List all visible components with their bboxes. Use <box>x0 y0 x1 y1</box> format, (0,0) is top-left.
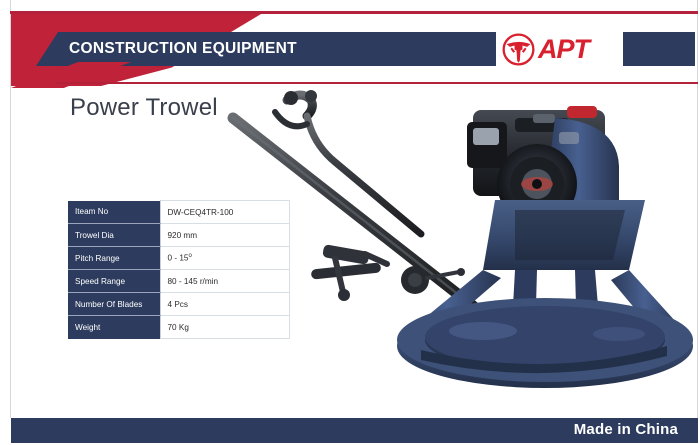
spec-value-iteam-no: DW-CEQ4TR-100 <box>160 201 290 224</box>
degree-symbol: o <box>188 253 191 259</box>
trowel-control-cluster <box>311 244 387 301</box>
made-in-china-label: Made in China <box>574 421 678 438</box>
frame-border-left <box>10 0 11 418</box>
spec-label-number-of-blades: Number Of Blades <box>68 293 160 316</box>
trowel-machine-body <box>397 106 693 388</box>
header-underline-red-rule <box>56 82 698 84</box>
spec-label-pitch-range: Pitch Range <box>68 247 160 270</box>
frame-border-right <box>697 0 698 418</box>
page-title: CONSTRUCTION EQUIPMENT <box>69 40 297 58</box>
spec-label-weight: Weight <box>68 316 160 339</box>
apt-logo-text: APT <box>538 36 589 63</box>
spec-value-pitch-range: 0 - 15o <box>160 247 290 270</box>
product-title: Power Trowel <box>70 94 218 122</box>
table-row: Trowel Dia 920 mm <box>68 224 290 247</box>
apt-bull-emblem-icon <box>502 33 535 66</box>
datasheet-page: CONSTRUCTION EQUIPMENT APT Power Trowel <box>0 0 700 445</box>
spec-value-speed-range: 80 - 145 r/min <box>160 270 290 293</box>
spec-label-speed-range: Speed Range <box>68 270 160 293</box>
header-bar: CONSTRUCTION EQUIPMENT <box>36 32 496 66</box>
table-row: Pitch Range 0 - 15o <box>68 247 290 270</box>
trowel-pitch-adjuster <box>401 266 465 294</box>
spec-value-pitch-range-text: 0 - 15 <box>168 254 189 263</box>
top-red-rule <box>10 11 698 14</box>
spec-value-trowel-dia: 920 mm <box>160 224 290 247</box>
table-row: Iteam No DW-CEQ4TR-100 <box>68 201 290 224</box>
spec-value-weight: 70 Kg <box>160 316 290 339</box>
table-row: Number Of Blades 4 Pcs <box>68 293 290 316</box>
spec-table-body: Iteam No DW-CEQ4TR-100 Trowel Dia 920 mm… <box>68 201 290 339</box>
spec-value-number-of-blades: 4 Pcs <box>160 293 290 316</box>
specifications-table: Iteam No DW-CEQ4TR-100 Trowel Dia 920 mm… <box>68 200 290 339</box>
spec-label-trowel-dia: Trowel Dia <box>68 224 160 247</box>
table-row: Weight 70 Kg <box>68 316 290 339</box>
spec-label-iteam-no: Iteam No <box>68 201 160 224</box>
header-accent-block-right <box>623 32 695 66</box>
apt-logo: APT <box>502 31 614 67</box>
table-row: Speed Range 80 - 145 r/min <box>68 270 290 293</box>
